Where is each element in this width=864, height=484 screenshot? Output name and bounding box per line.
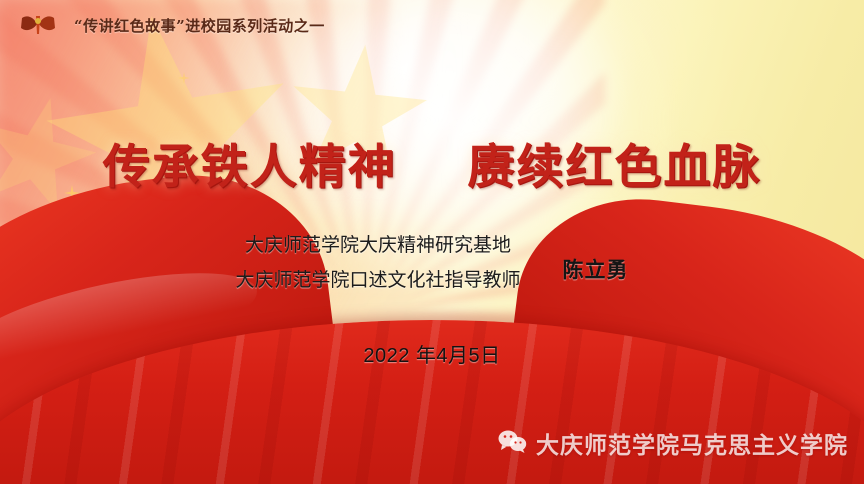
- affiliation-lines: 大庆师范学院大庆精神研究基地 大庆师范学院口述文化社指导教师: [235, 232, 520, 295]
- watermark: 大庆师范学院马克思主义学院: [497, 426, 848, 460]
- watermark-text: 大庆师范学院马克思主义学院: [536, 426, 848, 460]
- title-part-1: 传承铁人精神: [103, 140, 397, 195]
- affiliation-line-1: 大庆师范学院大庆精神研究基地: [235, 232, 520, 261]
- subtitle-block: 大庆师范学院大庆精神研究基地 大庆师范学院口述文化社指导教师 陈立勇: [0, 232, 864, 295]
- header-title: “传讲红色故事”进校园系列活动之一: [74, 15, 325, 36]
- wechat-logo-icon: [497, 429, 527, 458]
- title-part-2: 赓续红色血脉: [467, 140, 761, 195]
- affiliation-line-2: 大庆师范学院口述文化社指导教师: [235, 267, 520, 296]
- page-title: 传承铁人精神 赓续红色血脉: [0, 128, 864, 197]
- slide-canvas: 中华人民共和国万岁: [0, 0, 864, 484]
- red-ribbon-emblem-icon: [18, 12, 58, 38]
- date-text: 2022 年4月5日: [0, 339, 864, 368]
- presenter-name: 陈立勇: [563, 254, 629, 284]
- header-banner: “传讲红色故事”进校园系列活动之一: [18, 12, 325, 38]
